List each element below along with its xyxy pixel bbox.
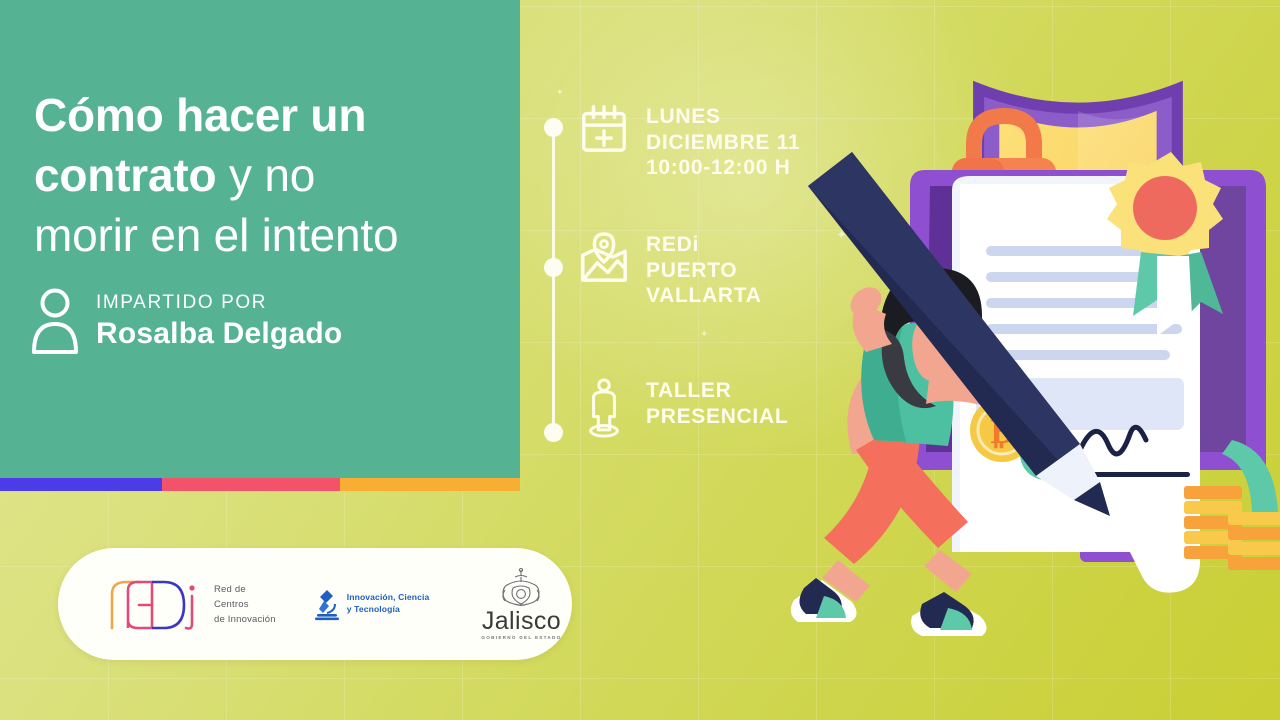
timeline-dot: [544, 423, 563, 442]
title-line-3: morir en el intento: [34, 206, 504, 266]
accent-stripe: [0, 478, 520, 491]
speaker-name: Rosalba Delgado: [96, 317, 342, 351]
title-line-2-tail: y no: [216, 149, 315, 201]
title-panel: Cómo hacer un contrato y no morir en el …: [0, 0, 520, 478]
jalisco-crest-icon: [495, 568, 547, 608]
location-line-3: VALLARTA: [646, 283, 762, 309]
logo-bar: Red de Centros de Innovación Innovación,…: [58, 548, 572, 660]
date-line-2: DICIEMBRE 11: [646, 130, 800, 156]
poster-canvas: ✦ ✦ ✦: [0, 0, 1280, 720]
logo-icyt: Innovación, Ciencia y Tecnología: [314, 587, 430, 621]
location-line-1: REDi: [646, 232, 762, 258]
stripe-segment-orange: [340, 478, 520, 491]
timeline-dot: [544, 118, 563, 137]
redi-tagline-2: Centros: [214, 597, 276, 612]
logo-redi: Red de Centros de Innovación: [106, 576, 276, 632]
doc-line: [986, 324, 1182, 334]
date-line-3: 10:00-12:00 H: [646, 155, 800, 181]
stripe-segment-blue: [0, 478, 162, 491]
standing-person-icon: [578, 378, 630, 438]
map-pin-icon: [578, 232, 630, 286]
detail-row-date: LUNES DICIEMBRE 11 10:00-12:00 H: [578, 104, 800, 181]
jalisco-subtitle: GOBIERNO DEL ESTADO: [481, 635, 561, 640]
microscope-icon: [314, 587, 340, 621]
date-line-1: LUNES: [646, 104, 800, 130]
page-title: Cómo hacer un contrato y no morir en el …: [34, 86, 504, 265]
redi-tagline: Red de Centros de Innovación: [214, 582, 276, 627]
doc-line: [986, 350, 1170, 360]
detail-row-modality: TALLER PRESENCIAL: [578, 378, 788, 438]
jalisco-wordmark: Jalisco: [482, 609, 561, 634]
detail-text-date: LUNES DICIEMBRE 11 10:00-12:00 H: [646, 104, 800, 181]
timeline-dot: [544, 258, 563, 277]
speaker-text: IMPARTIDO POR Rosalba Delgado: [96, 292, 342, 351]
modality-line-1: TALLER: [646, 378, 788, 404]
icyt-wordmark: Innovación, Ciencia y Tecnología: [347, 592, 430, 615]
redi-tagline-3: de Innovación: [214, 612, 276, 627]
title-line-2: contrato y no: [34, 146, 504, 206]
location-line-2: PUERTO: [646, 258, 762, 284]
modality-line-2: PRESENCIAL: [646, 404, 788, 430]
redi-mark-icon: [106, 576, 202, 632]
stripe-segment-pink: [162, 478, 340, 491]
detail-text-modality: TALLER PRESENCIAL: [646, 378, 788, 429]
illustration-svg: ₿ $: [780, 0, 1280, 720]
person-icon: [30, 288, 80, 354]
detail-text-location: REDi PUERTO VALLARTA: [646, 232, 762, 309]
calendar-plus-icon: [578, 104, 630, 154]
title-emphasis: contrato: [34, 149, 216, 201]
shoe: [911, 592, 986, 636]
redi-tagline-1: Red de: [214, 582, 276, 597]
speaker-label: IMPARTIDO POR: [96, 292, 342, 314]
speaker-block: IMPARTIDO POR Rosalba Delgado: [30, 288, 342, 354]
event-details: LUNES DICIEMBRE 11 10:00-12:00 H REDi PU…: [536, 0, 836, 720]
detail-row-location: REDi PUERTO VALLARTA: [578, 232, 762, 309]
logo-jalisco: Jalisco GOBIERNO DEL ESTADO: [481, 568, 561, 640]
contract-illustration: ₿ $: [780, 0, 1280, 720]
timeline-connector: [552, 124, 555, 436]
icyt-line-2: y Tecnología: [347, 604, 430, 616]
icyt-line-1: Innovación, Ciencia: [347, 592, 430, 604]
title-line-1: Cómo hacer un: [34, 86, 504, 146]
